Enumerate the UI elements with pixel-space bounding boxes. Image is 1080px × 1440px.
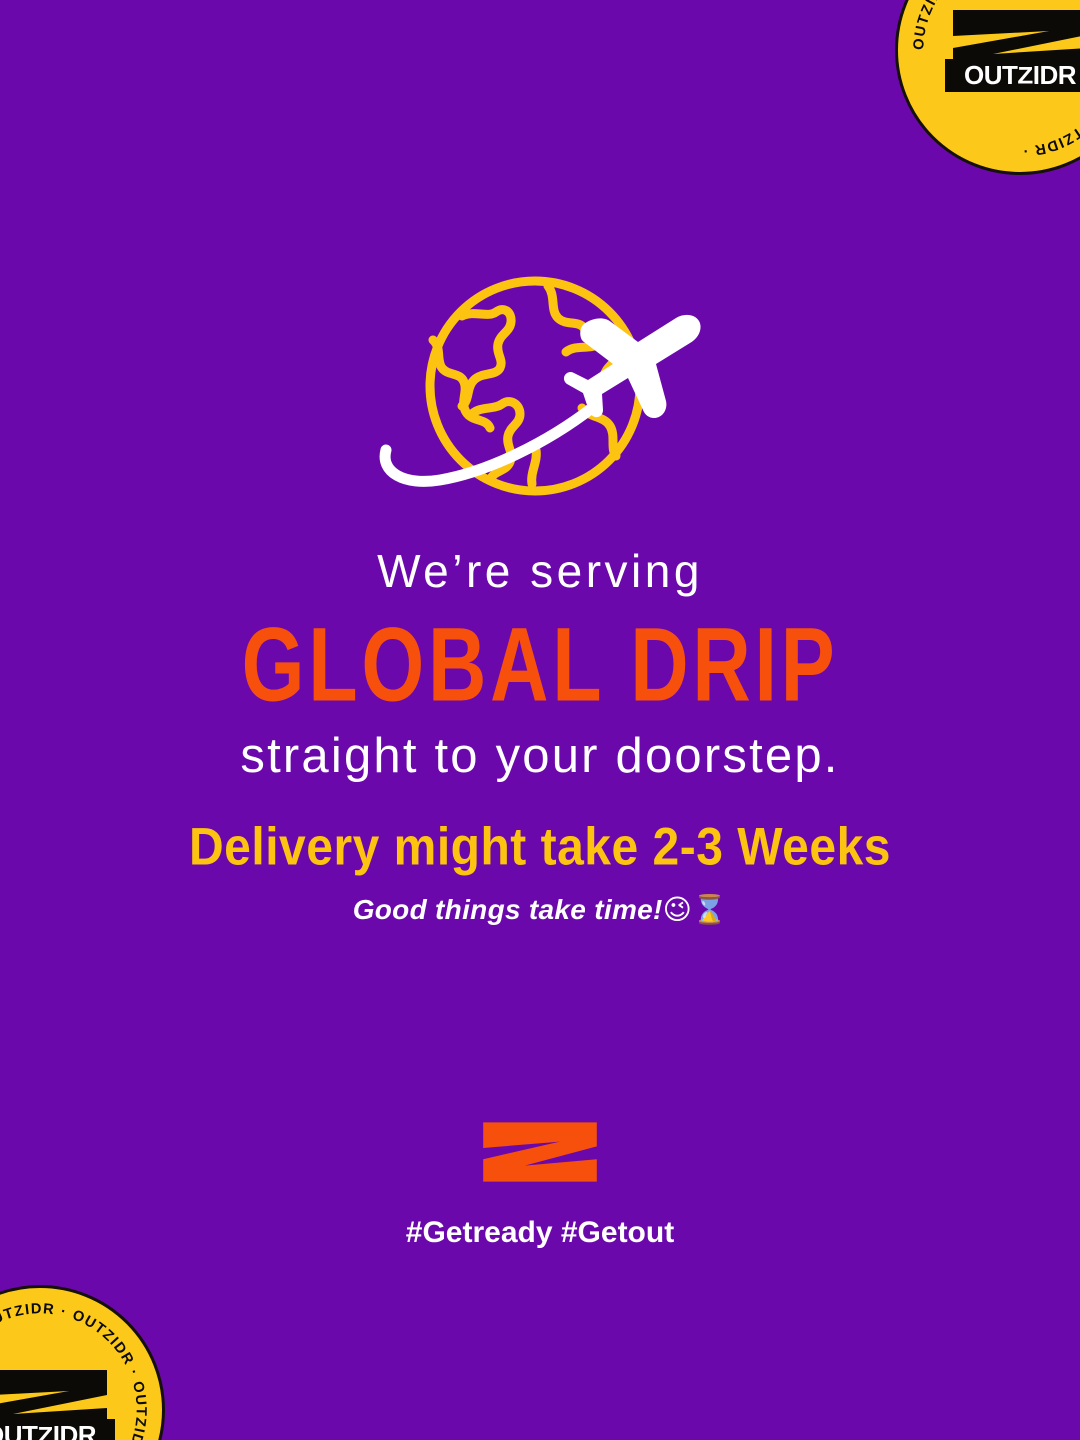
stamp-core-bottom-left: OUTZIDR (0, 1368, 115, 1440)
stamp-wordmark: OUTZIDR (0, 1419, 115, 1440)
wordmark-post: IDR (53, 1420, 96, 1440)
main-copy-block: We’re serving GLOBAL DRIP straight to yo… (0, 545, 1080, 784)
wordmark-z: Z (1017, 63, 1032, 87)
delivery-notice-block: Delivery might take 2-3 Weeks Good thing… (0, 822, 1080, 926)
eyebrow-text: We’re serving (0, 545, 1080, 598)
hashtags-text: #Getready #Getout (0, 1216, 1080, 1250)
wordmark-pre: OUT (964, 60, 1017, 90)
stamp-wordmark: OUTZIDR (945, 59, 1080, 92)
reassurance-text: Good things take time! (353, 894, 663, 925)
outzidr-stamp-bottom-left: OUTZIDR · OUTZIDR · OUTZIDR · OUTZIDR · … (0, 1285, 165, 1440)
page-title: GLOBAL DRIP (32, 610, 1047, 720)
delivery-notice: Delivery might take 2-3 Weeks (0, 819, 1080, 877)
wordmark-z: Z (37, 1423, 52, 1440)
outzidr-z-logo (480, 1120, 600, 1200)
stamp-core-top-right: OUTZIDR (945, 8, 1080, 92)
delivery-reassurance: Good things take time!😉⌛ (0, 893, 1080, 926)
footer-brand-block: #Getready #Getout (0, 1120, 1080, 1250)
promo-poster: OUTZIDR · OUTZIDR · OUTZIDR · OUTZIDR · … (0, 0, 1080, 1440)
outzidr-stamp-top-right: OUTZIDR · OUTZIDR · OUTZIDR · OUTZIDR · … (895, 0, 1080, 175)
subline-text: straight to your doorstep. (0, 730, 1080, 784)
wordmark-pre: OUT (0, 1420, 37, 1440)
globe-with-airplane-icon (370, 268, 710, 503)
wordmark-post: IDR (1033, 60, 1076, 90)
airplane-glyph (564, 315, 701, 418)
wink-hourglass-emoji: 😉⌛ (663, 893, 728, 926)
hero-illustration (0, 268, 1080, 503)
